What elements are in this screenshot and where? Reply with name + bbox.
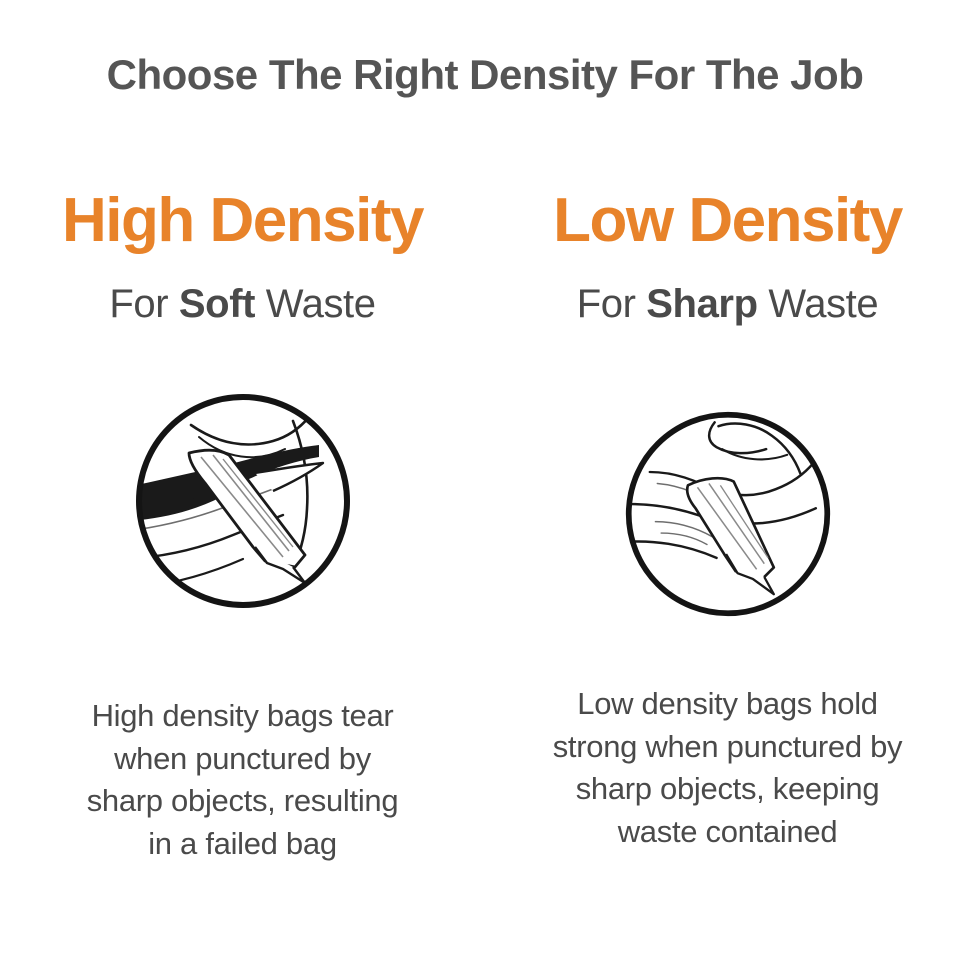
column-low-density: Low Density For Sharp Waste <box>485 186 970 853</box>
caption-line: High density bags tear <box>8 695 478 737</box>
subtitle-emphasis: Soft <box>179 282 255 326</box>
caption-line: waste contained <box>493 811 963 853</box>
caption-high-density: High density bags tear when punctured by… <box>8 611 478 865</box>
heading-high-density: High Density <box>62 186 423 255</box>
title-bar: Choose The Right Density For The Job <box>0 52 970 98</box>
bag-holding-strong-icon <box>623 409 833 619</box>
subtitle-emphasis: Sharp <box>646 282 757 326</box>
caption-line: Low density bags hold <box>493 683 963 725</box>
caption-line: strong when punctured by <box>493 726 963 768</box>
subtitle-suffix: Waste <box>255 282 376 326</box>
caption-line: sharp objects, resulting <box>8 780 478 822</box>
column-high-density: High Density For Soft Waste <box>0 186 485 865</box>
illustration-wrapper-low-density <box>485 327 970 619</box>
subtitle-suffix: Waste <box>758 282 879 326</box>
subtitle-high-density: For Soft Waste <box>109 255 375 327</box>
caption-line: when punctured by <box>8 738 478 780</box>
caption-line: sharp objects, keeping <box>493 768 963 810</box>
heading-low-density: Low Density <box>553 186 902 255</box>
comparison-columns: High Density For Soft Waste <box>0 186 970 865</box>
page-title: Choose The Right Density For The Job <box>0 52 970 98</box>
subtitle-low-density: For Sharp Waste <box>577 255 878 327</box>
caption-low-density: Low density bags hold strong when punctu… <box>493 619 963 853</box>
density-comparison-infographic: Choose The Right Density For The Job Hig… <box>0 0 970 971</box>
bag-torn-by-sharp-object-icon <box>133 391 353 611</box>
subtitle-prefix: For <box>109 282 179 326</box>
caption-line: in a failed bag <box>8 823 478 865</box>
subtitle-prefix: For <box>577 282 647 326</box>
illustration-wrapper-high-density <box>0 327 485 611</box>
